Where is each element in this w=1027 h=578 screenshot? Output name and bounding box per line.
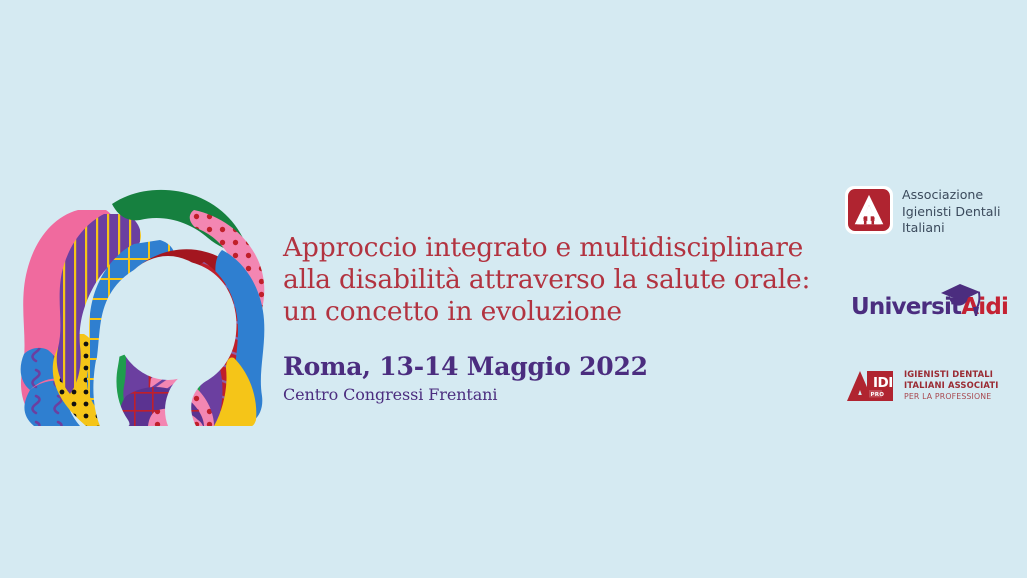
aidi-association-mark xyxy=(845,186,893,234)
event-text-block: Approccio integrato e multidisciplinare … xyxy=(283,232,813,406)
aidi-pro-wordmark: IGIENISTI DENTALI ITALIANI ASSOCIATI PER… xyxy=(904,369,999,403)
universitaidi-logo: UniversitAidi xyxy=(845,282,1020,324)
aidipro-line-2: ITALIANI ASSOCIATI xyxy=(904,380,999,391)
event-date: Roma, 13-14 Maggio 2022 xyxy=(283,352,813,382)
aidi-pro-logo: IDI PRO IGIENISTI DENTALI ITALIANI ASSOC… xyxy=(845,368,1020,404)
logo-stack: Associazione Igienisti Dentali Italiani … xyxy=(845,186,1020,404)
universitaidi-wordmark: UniversitAidi xyxy=(851,294,1008,320)
aidi-line-3: Italiani xyxy=(902,220,1001,237)
event-meta: Roma, 13-14 Maggio 2022 Centro Congressi… xyxy=(283,352,813,406)
aidi-line-1: Associazione xyxy=(902,187,1001,204)
title-line-3: un concetto in evoluzione xyxy=(283,296,813,328)
svg-text:IDI: IDI xyxy=(873,375,893,391)
aidipro-line-1: IGIENISTI DENTALI xyxy=(904,369,999,380)
aidipro-tagline: PER LA PROFESSIONE xyxy=(904,391,999,402)
aidi-pro-mark: IDI PRO xyxy=(845,368,897,404)
layered-head-profiles-artwork xyxy=(8,158,276,426)
svg-text:PRO: PRO xyxy=(871,392,885,398)
aidi-association-wordmark: Associazione Igienisti Dentali Italiani xyxy=(902,186,1001,237)
title-line-2: alla disabilità attraverso la salute ora… xyxy=(283,264,813,296)
conference-banner: Approccio integrato e multidisciplinare … xyxy=(0,0,1027,578)
event-venue: Centro Congressi Frentani xyxy=(283,384,813,406)
title-line-1: Approccio integrato e multidisciplinare xyxy=(283,232,813,264)
graduation-cap-icon xyxy=(937,279,983,319)
aidi-line-2: Igienisti Dentali xyxy=(902,204,1001,221)
page-title: Approccio integrato e multidisciplinare … xyxy=(283,232,813,328)
aidi-association-logo: Associazione Igienisti Dentali Italiani xyxy=(845,186,1020,237)
